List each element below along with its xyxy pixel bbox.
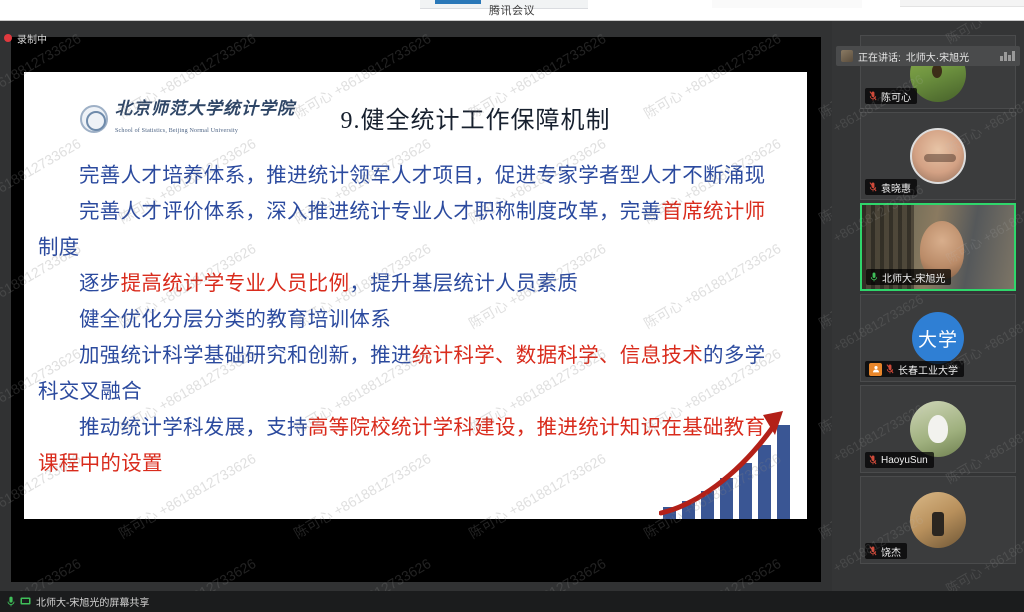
active-speaker-banner: 正在讲话: 北师大·宋旭光 — [836, 46, 1020, 66]
microphone-muted-icon — [869, 182, 877, 192]
participant-tiles: 陈可心袁晓惠北师大-宋旭光大学长春工业大学HaoyuSun饶杰 — [832, 35, 1024, 567]
participant-tile[interactable]: HaoyuSun — [860, 385, 1016, 473]
slide-paragraph: 完善人才评价体系，深入推进统计专业人才职称制度改革，完善首席统计师制度 — [38, 194, 780, 266]
participant-name-chip: 饶杰 — [865, 543, 907, 559]
trend-arrow — [661, 427, 773, 513]
participant-tile[interactable]: 大学长春工业大学 — [860, 294, 1016, 382]
slide-text-run: 提高统计学专业人员比例 — [121, 273, 350, 295]
slide-text-run: 推动统计学科发展，支持 — [79, 417, 308, 439]
participant-name: 饶杰 — [881, 544, 901, 559]
slide-paragraph: 加强统计科学基础研究和创新，推进统计科学、数据科学、信息技术的多学科交叉融合 — [38, 338, 780, 410]
audio-wave-icon — [1000, 51, 1015, 61]
recording-label: 录制中 — [17, 31, 47, 46]
microphone-muted-icon — [869, 91, 877, 101]
participant-name: 袁晓惠 — [881, 180, 911, 195]
microphone-muted-icon — [886, 364, 894, 374]
participant-name: HaoyuSun — [881, 455, 928, 466]
avatar: 大学 — [912, 312, 964, 364]
participant-sidebar[interactable]: 正在讲话: 北师大·宋旭光 陈可心袁晓惠北师大-宋旭光大学长春工业大学Haoyu… — [832, 21, 1024, 591]
avatar — [910, 492, 966, 548]
growth-chart-graphic — [659, 401, 805, 519]
recording-dot-icon — [4, 34, 12, 42]
meeting-bottom-bar[interactable]: 北师大-宋旭光的屏幕共享 — [0, 591, 1024, 612]
screen-root: 腾讯会议 录制中 北京师范大学统计学院 School of Statistics… — [0, 0, 1024, 612]
slide-text-run: ，提升基层统计人员素质 — [349, 273, 578, 295]
slide-paragraph: 健全优化分层分类的教育培训体系 — [38, 302, 780, 338]
host-icon — [869, 363, 882, 376]
os-top-strip: 腾讯会议 — [0, 0, 1024, 21]
screen-share-label: 北师大-宋旭光的屏幕共享 — [36, 594, 149, 609]
slide-text-run: 加强统计科学基础研究和创新，推进 — [79, 345, 412, 367]
slide-text-run: 首席统计师 — [661, 201, 765, 223]
microphone-muted-icon — [869, 546, 877, 556]
participant-name-chip: 长春工业大学 — [865, 361, 964, 377]
avatar — [910, 128, 966, 184]
slide-title: 9.健全统计工作保障机制 — [24, 100, 807, 135]
slide-text-run: 完善人才培养体系，推进统计领军人才项目，促进专家学者型人才不断涌现 — [79, 165, 765, 187]
slide-text-run: 完善人才评价体系，深入推进统计专业人才职称制度改革，完善 — [79, 201, 661, 223]
recording-badge: 录制中 — [4, 31, 47, 45]
slide-paragraph: 逐步提高统计学专业人员比例，提升基层统计人员素质 — [38, 266, 780, 302]
participant-name-chip: HaoyuSun — [865, 452, 934, 468]
microphone-on-icon — [870, 272, 878, 282]
microphone-icon — [7, 596, 15, 607]
participant-name-chip: 陈可心 — [865, 88, 917, 104]
participant-name-chip: 北师大-宋旭光 — [866, 269, 951, 285]
microphone-muted-icon — [869, 455, 877, 465]
participant-name-chip: 袁晓惠 — [865, 179, 917, 195]
presentation-slide: 北京师范大学统计学院 School of Statistics, Beijing… — [24, 72, 807, 519]
screen-share-icon — [20, 597, 31, 606]
participant-name: 陈可心 — [881, 89, 911, 104]
participant-tile[interactable]: 饶杰 — [860, 476, 1016, 564]
speaker-thumb-icon — [841, 50, 853, 62]
participant-tile[interactable]: 袁晓惠 — [860, 112, 1016, 200]
slide-text-run: 逐步 — [79, 273, 121, 295]
speaking-prefix: 正在讲话: — [858, 49, 901, 64]
slide-text-run: 健全优化分层分类的教育培训体系 — [79, 309, 391, 331]
speaking-name: 北师大·宋旭光 — [906, 49, 969, 64]
app-title: 腾讯会议 — [0, 2, 1024, 18]
participant-name: 长春工业大学 — [898, 362, 958, 377]
slide-paragraph: 完善人才培养体系，推进统计领军人才项目，促进专家学者型人才不断涌现 — [38, 158, 780, 194]
participant-name: 北师大-宋旭光 — [882, 270, 945, 285]
slide-text-run: 制度 — [38, 237, 80, 259]
participant-tile[interactable]: 北师大-宋旭光 — [860, 203, 1016, 291]
avatar — [910, 401, 966, 457]
shared-screen-stage[interactable]: 录制中 北京师范大学统计学院 School of Statistics, Bei… — [0, 21, 832, 591]
meeting-window: 录制中 北京师范大学统计学院 School of Statistics, Bei… — [0, 21, 1024, 612]
slide-text-run: 统计科学、数据科学、信息技术 — [412, 345, 703, 367]
